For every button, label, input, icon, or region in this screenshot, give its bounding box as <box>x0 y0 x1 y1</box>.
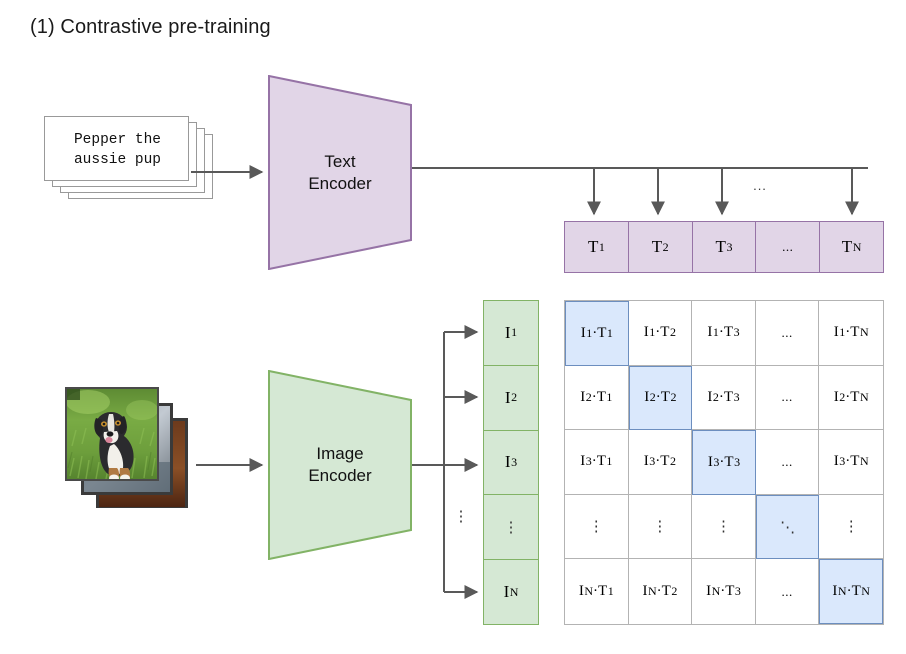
similarity-cell: ⋮ <box>629 495 693 560</box>
similarity-cell-text-term: T <box>598 583 607 600</box>
similarity-cell-text-subscript: N <box>859 454 868 469</box>
similarity-cell: ... <box>756 559 820 624</box>
similarity-cell-text-term: T <box>660 453 669 470</box>
similarity-cell-image-subscript: N <box>647 584 656 599</box>
text-embedding-cell: T2 <box>629 222 693 272</box>
similarity-cell-text-term: T <box>597 453 606 470</box>
similarity-cell-text-subscript: 2 <box>671 584 678 599</box>
similarity-cell-diagonal: I1·T1 <box>565 301 629 366</box>
similarity-cell-text-subscript: 3 <box>734 584 741 599</box>
similarity-cell-text-subscript: 1 <box>606 454 613 469</box>
image-embedding-subscript: 2 <box>511 390 518 405</box>
similarity-cell-text-subscript: 2 <box>669 325 676 340</box>
image-embedding-cell: I3 <box>484 431 538 496</box>
similarity-cell-text-term: T <box>850 453 859 470</box>
similarity-cell: I1·T2 <box>629 301 693 366</box>
similarity-cell: ⋮ <box>692 495 756 560</box>
similarity-cell: I1·T3 <box>692 301 756 366</box>
image-embedding-subscript: N <box>509 585 518 600</box>
similarity-cell-text-subscript: 3 <box>733 390 740 405</box>
text-embedding-cell: T3 <box>693 222 757 272</box>
image-embedding-cell: I2 <box>484 366 538 431</box>
image-embedding-cell: I1 <box>484 301 538 366</box>
image-encoder-label: ImageEncoder <box>308 443 371 487</box>
text-embedding-label: T <box>588 237 598 257</box>
similarity-cell-ellipsis: ⋮ <box>844 517 859 536</box>
similarity-cell: I3·TN <box>819 430 883 495</box>
similarity-cell: I1·TN <box>819 301 883 366</box>
text-bus-ellipsis: ... <box>740 178 780 193</box>
similarity-cell-ellipsis: ... <box>781 389 792 405</box>
similarity-matrix: I1·T1I1·T2I1·T3...I1·TNI2·T1I2·T2I2·T3..… <box>564 300 884 625</box>
similarity-cell-text-subscript: 1 <box>607 584 614 599</box>
figure-canvas: (1) Contrastive pre-training Pepper the … <box>0 0 906 654</box>
image-bus-ellipsis: ⋮ <box>452 507 470 525</box>
figure-title: (1) Contrastive pre-training <box>30 14 271 40</box>
similarity-cell: I2·TN <box>819 366 883 431</box>
text-encoder-block: TextEncoder <box>268 75 412 270</box>
text-embedding-label: T <box>652 237 662 257</box>
similarity-cell-text-subscript: 1 <box>606 390 613 405</box>
text-encoder-label: TextEncoder <box>308 151 371 195</box>
similarity-cell: ... <box>756 430 820 495</box>
text-embedding-label: T <box>716 237 726 257</box>
text-embedding-row: T1 T2 T3 ... TN <box>564 221 884 273</box>
similarity-cell-text-term: T <box>850 389 859 406</box>
similarity-cell-text-subscript: 2 <box>670 390 677 405</box>
text-embedding-subscript: 3 <box>726 240 733 255</box>
image-embedding-subscript: 3 <box>511 455 518 470</box>
similarity-cell: ... <box>756 366 820 431</box>
similarity-cell: I3·T1 <box>565 430 629 495</box>
similarity-cell-text-subscript: 3 <box>734 455 741 470</box>
similarity-cell-image-subscript: N <box>837 584 846 599</box>
similarity-cell-text-term: T <box>662 583 671 600</box>
similarity-cell-text-subscript: 1 <box>606 326 613 341</box>
similarity-cell: IN·T3 <box>692 559 756 624</box>
similarity-cell-text-term: T <box>660 324 669 341</box>
similarity-cell-image-subscript: N <box>584 584 593 599</box>
similarity-cell: ⋮ <box>565 495 629 560</box>
text-embedding-subscript: 2 <box>662 240 669 255</box>
similarity-cell-text-term: T <box>852 583 861 600</box>
similarity-cell-text-term: T <box>850 324 859 341</box>
similarity-cell-diagonal: I2·T2 <box>629 366 693 431</box>
similarity-cell: IN·T2 <box>629 559 693 624</box>
image-stack-layer-1-puppy-photo <box>66 388 158 482</box>
similarity-cell-text-term: T <box>597 325 606 342</box>
similarity-cell-diagonal: I3·T3 <box>692 430 756 495</box>
similarity-cell-text-subscript: N <box>859 325 868 340</box>
similarity-cell: IN·T1 <box>565 559 629 624</box>
caption-line-1: Pepper the <box>74 130 161 150</box>
similarity-cell: I2·T3 <box>692 366 756 431</box>
text-embedding-label: ... <box>782 239 793 255</box>
similarity-cell-text-term: T <box>724 389 733 406</box>
text-embedding-cell: TN <box>820 222 883 272</box>
similarity-cell: I2·T1 <box>565 366 629 431</box>
similarity-cell-diagonal: IN·TN <box>819 559 883 624</box>
similarity-cell-text-term: T <box>597 389 606 406</box>
similarity-cell-text-subscript: 3 <box>733 325 740 340</box>
similarity-cell-ellipsis: ⋱ <box>780 518 795 537</box>
similarity-cell-text-subscript: N <box>861 584 870 599</box>
similarity-cell-ellipsis: ... <box>781 584 792 600</box>
similarity-cell-diagonal: ⋱ <box>756 495 820 560</box>
image-embedding-label: ⋮ <box>504 518 519 537</box>
image-embedding-column: I1 I2 I3 ⋮ IN <box>483 300 539 625</box>
similarity-cell-ellipsis: ⋮ <box>716 517 731 536</box>
image-embedding-cell-ellipsis: ⋮ <box>484 495 538 560</box>
similarity-cell-text-term: T <box>724 324 733 341</box>
similarity-cell: ⋮ <box>819 495 883 560</box>
similarity-cell-ellipsis: ... <box>781 454 792 470</box>
image-thumbnail-stack <box>62 386 192 508</box>
text-embedding-cell-ellipsis: ... <box>756 222 820 272</box>
text-embedding-subscript: 1 <box>598 240 605 255</box>
text-embedding-cell: T1 <box>565 222 629 272</box>
similarity-cell: I3·T2 <box>629 430 693 495</box>
caption-line-2: aussie pup <box>74 150 161 170</box>
text-embedding-subscript: N <box>852 240 861 255</box>
image-embedding-subscript: 1 <box>511 325 518 340</box>
similarity-cell-ellipsis: ... <box>781 325 792 341</box>
similarity-cell-text-subscript: N <box>859 390 868 405</box>
similarity-cell-ellipsis: ⋮ <box>652 517 667 536</box>
similarity-cell-text-term: T <box>725 583 734 600</box>
similarity-cell-text-term: T <box>724 454 733 471</box>
caption-text: Pepper the aussie pup <box>45 117 190 182</box>
text-embedding-label: T <box>842 237 852 257</box>
image-embedding-cell: IN <box>484 560 538 624</box>
similarity-cell-text-subscript: 2 <box>669 454 676 469</box>
similarity-cell-image-subscript: N <box>711 584 720 599</box>
similarity-cell-ellipsis: ⋮ <box>589 517 604 536</box>
caption-card: Pepper the aussie pup <box>44 116 189 181</box>
image-encoder-block: ImageEncoder <box>268 370 412 560</box>
similarity-cell-text-term: T <box>661 389 670 406</box>
similarity-cell: ... <box>756 301 820 366</box>
